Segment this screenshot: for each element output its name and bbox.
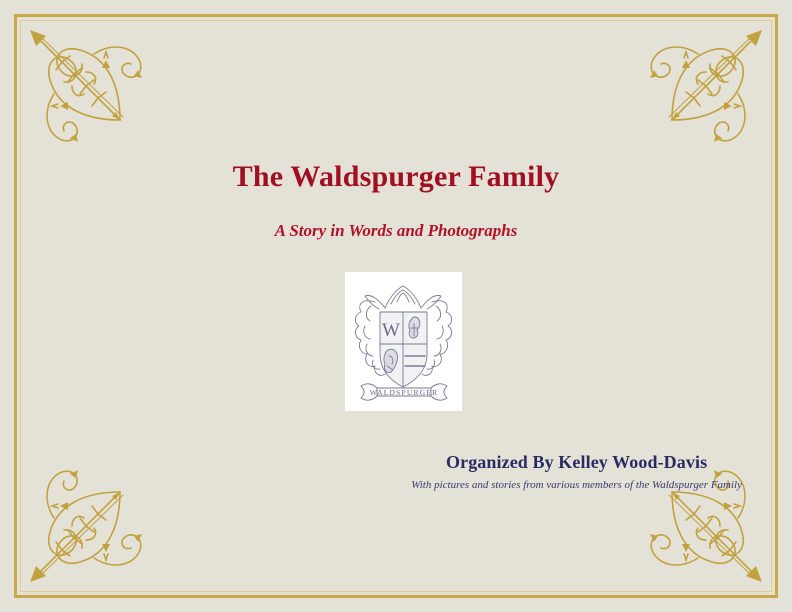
page-title: The Waldspurger Family [0, 160, 792, 194]
author-name: Organized By Kelley Wood-Davis [411, 452, 742, 473]
svg-text:W: W [382, 320, 400, 341]
family-coat-of-arms-icon: W WALDSPURGER [345, 272, 462, 411]
author-block: Organized By Kelley Wood-Davis With pict… [411, 452, 742, 491]
filigree-corner-ornament-icon-top-right [626, 16, 776, 166]
title-block: The Waldspurger Family A Story in Words … [0, 160, 792, 241]
svg-text:WALDSPURGER: WALDSPURGER [370, 388, 439, 397]
author-note: With pictures and stories from various m… [411, 473, 742, 491]
filigree-corner-ornament-icon-top-left [16, 16, 166, 166]
filigree-corner-ornament-icon-bottom-left [16, 446, 166, 596]
book-cover-page: The Waldspurger Family A Story in Words … [0, 0, 792, 612]
page-subtitle: A Story in Words and Photographs [0, 194, 792, 241]
